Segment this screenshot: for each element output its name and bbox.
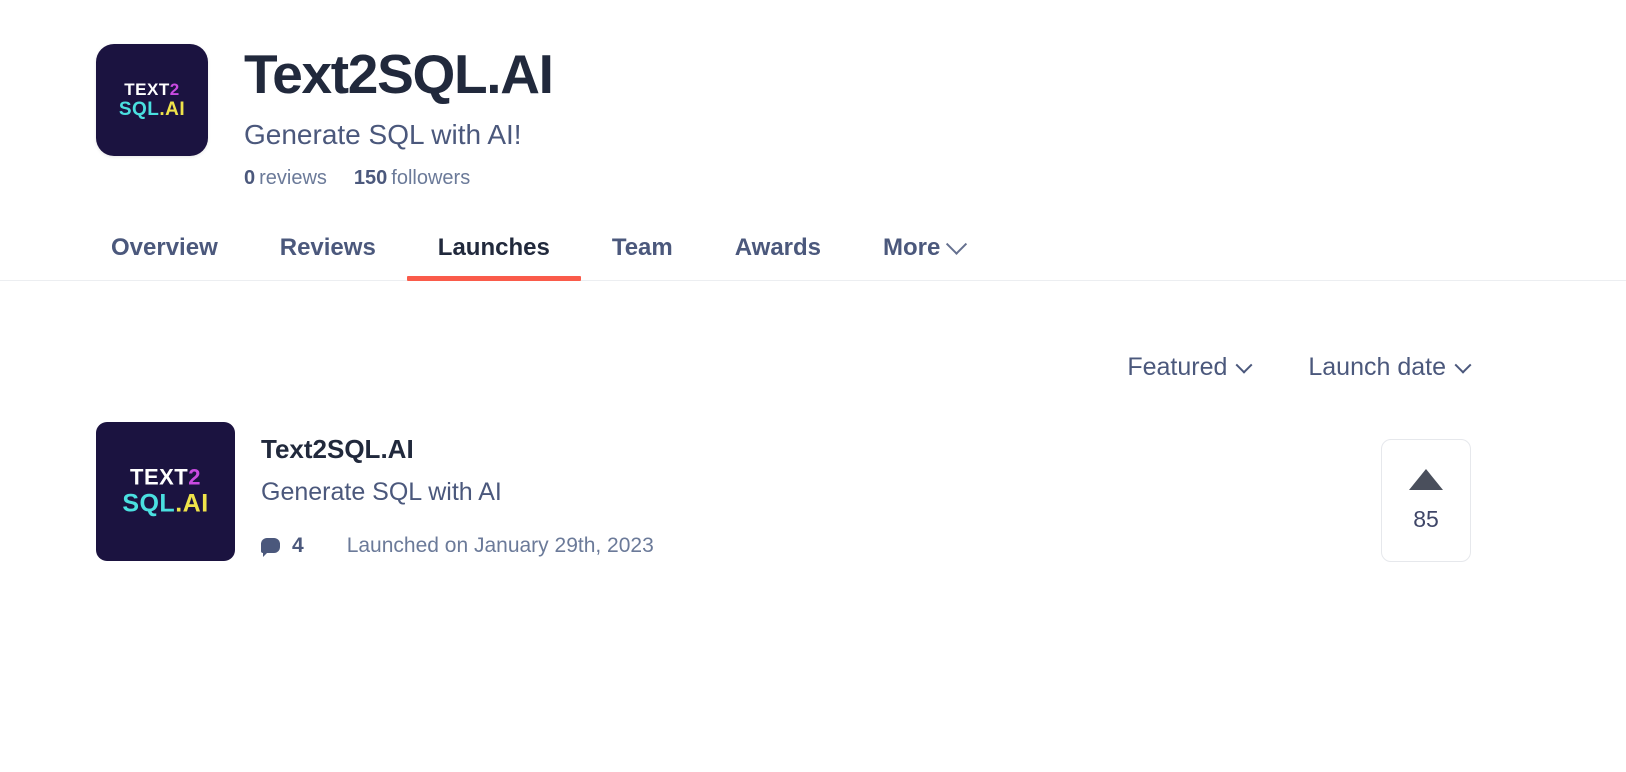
- profile-logo: TEXT2 SQL.AI: [96, 44, 208, 156]
- chevron-down-icon: [1236, 357, 1253, 374]
- tab-launches[interactable]: Launches: [407, 234, 581, 280]
- launch-logo-line-2: SQL.AI: [96, 490, 235, 518]
- profile-tabs: Overview Reviews Launches Team Awards Mo…: [0, 234, 1626, 280]
- profile-logo-ai-word: .AI: [159, 99, 185, 120]
- reviews-count: 0: [244, 167, 255, 189]
- tab-reviews-label: Reviews: [280, 234, 376, 262]
- profile-logo-sql-word: SQL: [119, 99, 160, 120]
- tab-reviews[interactable]: Reviews: [249, 234, 407, 280]
- launch-sort-row: Featured Launch date: [0, 281, 1626, 382]
- upvote-button[interactable]: 85: [1381, 439, 1471, 562]
- tab-team[interactable]: Team: [581, 234, 704, 280]
- reviews-label: reviews: [259, 167, 327, 189]
- tab-team-label: Team: [612, 234, 673, 262]
- profile-logo-two: 2: [170, 80, 180, 99]
- launch-date: Launched on January 29th, 2023: [347, 534, 654, 558]
- tab-more[interactable]: More: [852, 234, 995, 280]
- launch-list: TEXT2 SQL.AI Text2SQL.AI Generate SQL wi…: [0, 382, 1626, 561]
- launch-logo-text-word: TEXT: [130, 465, 188, 490]
- launch-logo-ai-word: .AI: [175, 490, 208, 518]
- profile-logo-text-word: TEXT: [124, 80, 169, 99]
- launch-logo-sql-word: SQL: [122, 490, 175, 518]
- comment-icon[interactable]: [261, 538, 280, 553]
- reviews-stat: 0reviews: [244, 167, 327, 190]
- profile-header: TEXT2 SQL.AI Text2SQL.AI Generate SQL wi…: [0, 0, 1626, 190]
- followers-count: 150: [354, 167, 387, 189]
- tab-launches-label: Launches: [438, 234, 550, 262]
- launch-list-item[interactable]: TEXT2 SQL.AI Text2SQL.AI Generate SQL wi…: [96, 422, 1626, 561]
- launch-logo-wordmark: TEXT2 SQL.AI: [96, 466, 235, 519]
- profile-logo-line-2: SQL.AI: [96, 99, 208, 120]
- tab-awards-label: Awards: [735, 234, 821, 262]
- launch-logo-line-1: TEXT2: [96, 466, 235, 491]
- page-title: Text2SQL.AI: [244, 46, 553, 104]
- profile-tabs-bar: Overview Reviews Launches Team Awards Mo…: [0, 234, 1626, 281]
- sort-launch-date-label: Launch date: [1308, 353, 1446, 382]
- profile-stats: 0reviews 150followers: [244, 167, 553, 190]
- profile-tagline: Generate SQL with AI!: [244, 118, 553, 152]
- sort-featured-dropdown[interactable]: Featured: [1127, 353, 1250, 382]
- sort-featured-label: Featured: [1127, 353, 1227, 382]
- chevron-down-icon: [1455, 357, 1472, 374]
- comment-count: 4: [292, 534, 304, 558]
- tab-overview-label: Overview: [111, 234, 218, 262]
- followers-label: followers: [391, 167, 470, 189]
- upvote-count: 85: [1413, 506, 1439, 533]
- profile-meta: Text2SQL.AI Generate SQL with AI! 0revie…: [244, 44, 553, 190]
- followers-stat: 150followers: [354, 167, 470, 190]
- upvote-triangle-icon: [1409, 469, 1443, 490]
- tab-awards[interactable]: Awards: [704, 234, 852, 280]
- profile-logo-wordmark: TEXT2 SQL.AI: [96, 80, 208, 120]
- tab-more-label: More: [883, 234, 940, 262]
- launch-logo-two: 2: [188, 465, 201, 490]
- chevron-down-icon: [946, 233, 967, 254]
- tab-overview[interactable]: Overview: [80, 234, 249, 280]
- sort-launch-date-dropdown[interactable]: Launch date: [1308, 353, 1469, 382]
- launch-thumbnail[interactable]: TEXT2 SQL.AI: [96, 422, 235, 561]
- profile-logo-line-1: TEXT2: [96, 80, 208, 99]
